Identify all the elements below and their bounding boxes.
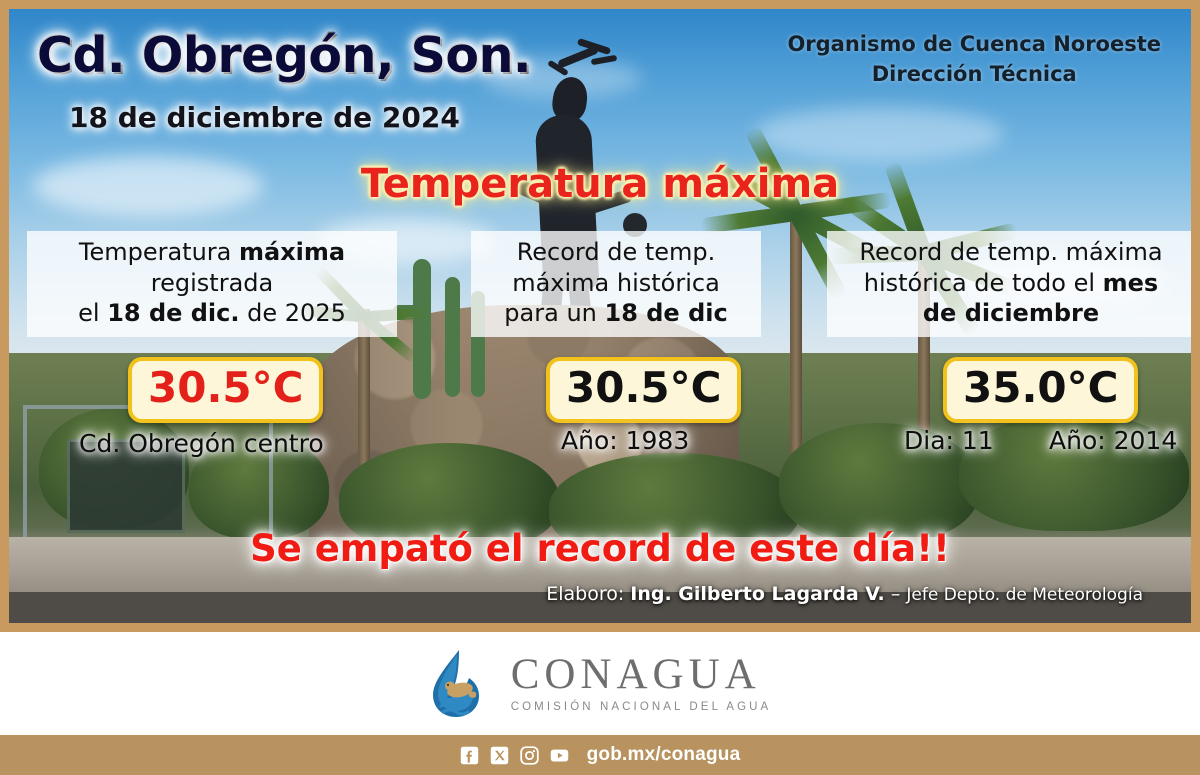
org-line-2: Dirección Técnica [787,59,1161,89]
card-3-day-note: Dia: 11 [904,426,994,455]
card-1-temperature-badge: 30.5°C [128,357,323,423]
card-2-label: Record de temp. máxima histórica para un… [471,231,761,337]
footer-url[interactable]: gob.mx/conagua [587,744,741,766]
page-title: Cd. Obregón, Son. [37,27,531,84]
main-heading: Temperatura máxima [9,161,1191,207]
card-2-line2: máxima histórica [483,268,749,299]
photo-frame: Cd. Obregón, Son. 18 de diciembre de 202… [0,0,1200,632]
card-3-line3: de diciembre [923,299,1099,327]
card-3-label: Record de temp. máxima histórica de todo… [827,231,1195,337]
tagline: Se empató el record de este día!! [9,527,1191,570]
card-1-station-note: Cd. Obregón centro [79,429,324,458]
footer-bar: gob.mx/conagua [0,735,1200,775]
card-1-line3b: 18 de dic. [107,299,239,327]
x-twitter-icon[interactable] [490,746,509,765]
card-3-line2a: histórica de todo el [864,269,1103,297]
credit-name: Ing. Gilberto Lagarda V. [630,583,885,605]
card-2-temperature-badge: 30.5°C [546,357,741,423]
card-1-line2: registrada [39,268,385,299]
card-3-year-note: Año: 2014 [1049,426,1177,455]
organization-block: Organismo de Cuenca Noroeste Dirección T… [787,29,1161,90]
card-2-line3a: para un [504,299,604,327]
logo-band: CONAGUA COMISIÓN NACIONAL DEL AGUA [0,632,1200,735]
org-line-1: Organismo de Cuenca Noroeste [787,29,1161,59]
card-2-line1: Record de temp. [483,237,749,268]
card-3-line2b: mes [1103,269,1159,297]
card-1-line3a: el [78,299,107,327]
logo-name: CONAGUA [511,653,772,696]
card-1-line3c: de 2025 [240,299,346,327]
facebook-icon[interactable] [460,746,479,765]
weather-infographic: Cd. Obregón, Son. 18 de diciembre de 202… [0,0,1200,775]
logo-subtitle: COMISIÓN NACIONAL DEL AGUA [511,702,772,714]
conagua-logo: CONAGUA COMISIÓN NACIONAL DEL AGUA [429,648,772,720]
credit-prefix: Elaboro: [546,583,630,605]
youtube-icon[interactable] [550,746,569,765]
card-3-line1: Record de temp. máxima [839,237,1183,268]
cloud [754,107,1004,161]
water-drop-otter-icon [429,648,495,720]
instagram-icon[interactable] [520,746,539,765]
card-3-temperature-badge: 35.0°C [943,357,1138,423]
card-1-line1b: máxima [239,238,345,266]
card-1-label: Temperatura máxima registrada el 18 de d… [27,231,397,337]
card-1-line1a: Temperatura [79,238,239,266]
credit-role: Jefe Depto. de Meteorología [906,585,1143,605]
card-2-year-note: Año: 1983 [561,426,689,455]
credit-line: Elaboro: Ing. Gilberto Lagarda V. – Jefe… [546,583,1143,605]
credit-separator: – [885,583,907,605]
card-2-line3b: 18 de dic [605,299,728,327]
cactus [445,277,460,397]
report-date: 18 de diciembre de 2024 [69,101,460,134]
